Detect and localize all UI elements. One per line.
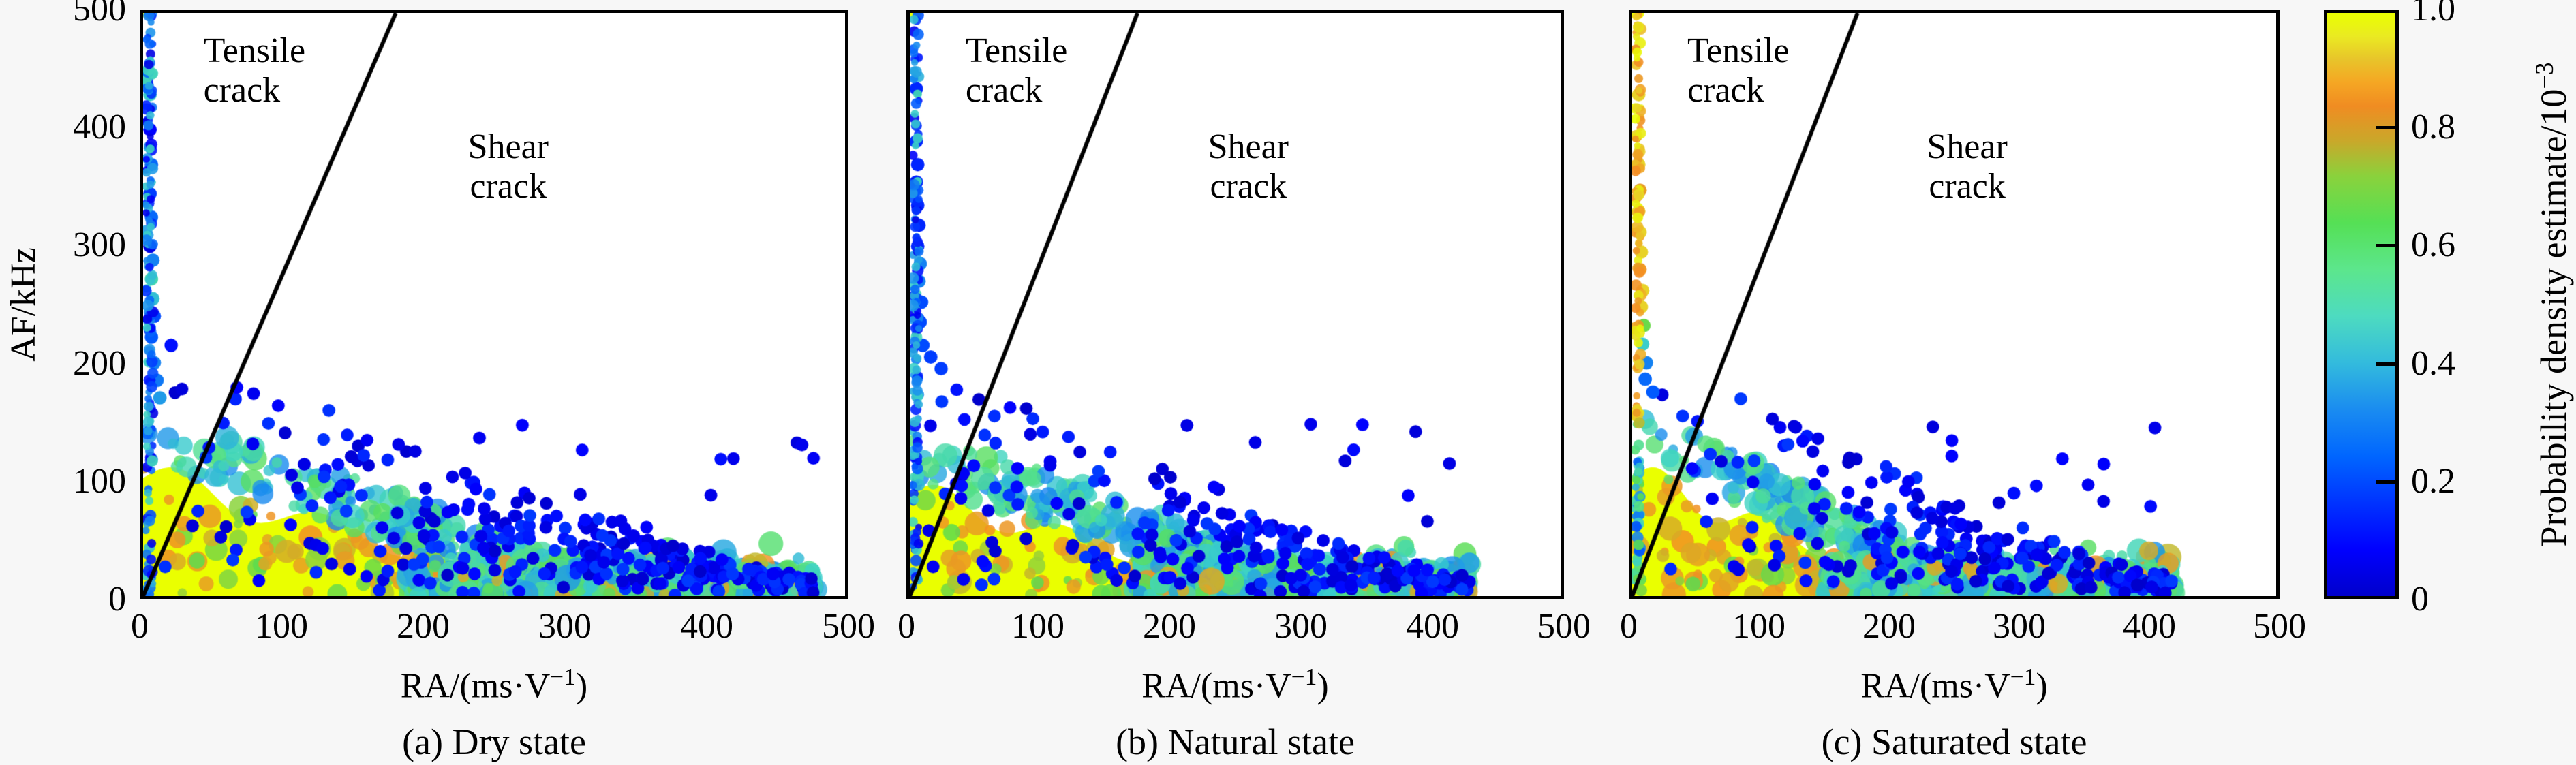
xtick-b-100: 100 <box>1011 609 1064 644</box>
xtick-b-500: 500 <box>1537 609 1591 644</box>
xtick-c-400: 400 <box>2123 609 2176 644</box>
xtick-a-0: 0 <box>131 609 149 644</box>
x-axis-label-exponent: −1 <box>550 663 576 690</box>
colorbar-tick-0.8: 0.8 <box>2411 110 2455 145</box>
colorbar-label-text: Probability density estimate/10 <box>2533 89 2574 547</box>
shear-crack-label-c: Shear crack <box>1927 127 2007 206</box>
xtick-c-0: 0 <box>1620 609 1638 644</box>
tensile-crack-label-c: Tensile crack <box>1687 31 1789 110</box>
xtick-c-200: 200 <box>1862 609 1916 644</box>
x-axis-label-text: RA/(ms·V <box>401 666 551 705</box>
xtick-c-500: 500 <box>2253 609 2306 644</box>
figure-root: Tensile crackShear crack0100200300400500… <box>0 0 2576 765</box>
xtick-b-300: 300 <box>1274 609 1328 644</box>
colorbar-tick-1.0: 1.0 <box>2411 0 2455 27</box>
xtick-a-300: 300 <box>538 609 592 644</box>
xtick-b-400: 400 <box>1406 609 1459 644</box>
x-axis-label-suffix: ) <box>1317 666 1328 705</box>
ytick-0: 0 <box>37 582 126 617</box>
y-axis-label: AF/kHz <box>6 247 42 362</box>
x-axis-label-exponent: −1 <box>1291 663 1317 690</box>
x-axis-label-c: RA/(ms·V−1) <box>1860 665 2048 704</box>
ytick-500: 500 <box>37 0 126 27</box>
shear-crack-label-b: Shear crack <box>1208 127 1289 206</box>
xtick-c-300: 300 <box>1993 609 2046 644</box>
x-axis-label-suffix: ) <box>576 666 587 705</box>
xtick-b-200: 200 <box>1143 609 1196 644</box>
colorbar-tick-mark-0.8 <box>2376 126 2399 129</box>
tensile-crack-label-a: Tensile crack <box>204 31 305 110</box>
xtick-a-100: 100 <box>255 609 308 644</box>
colorbar <box>2324 10 2399 599</box>
colorbar-tick-0.4: 0.4 <box>2411 346 2455 381</box>
xtick-c-100: 100 <box>1732 609 1785 644</box>
x-axis-label-exponent: −1 <box>2010 663 2036 690</box>
colorbar-tick-mark-0.2 <box>2376 480 2399 484</box>
panel-caption-a: (a) Dry state <box>402 723 586 760</box>
y-axis-label-text: AF/kHz <box>4 247 43 362</box>
xtick-b-0: 0 <box>898 609 915 644</box>
xtick-a-500: 500 <box>822 609 875 644</box>
xtick-a-200: 200 <box>397 609 450 644</box>
x-axis-label-b: RA/(ms·V−1) <box>1141 665 1329 704</box>
ytick-300: 300 <box>37 228 126 263</box>
tensile-crack-label-b: Tensile crack <box>966 31 1067 110</box>
colorbar-label-exponent: −3 <box>2530 63 2558 89</box>
x-axis-label-suffix: ) <box>2036 666 2047 705</box>
ytick-100: 100 <box>37 464 126 499</box>
panel-caption-b: (b) Natural state <box>1116 723 1355 760</box>
colorbar-tick-mark-0.4 <box>2376 362 2399 366</box>
x-axis-label-text: RA/(ms·V <box>1860 666 2010 705</box>
xtick-a-400: 400 <box>680 609 733 644</box>
panel-caption-c: (c) Saturated state <box>1822 723 2087 760</box>
colorbar-tick-0: 0 <box>2411 582 2429 617</box>
x-axis-label-text: RA/(ms·V <box>1141 666 1291 705</box>
colorbar-tick-mark-0.6 <box>2376 244 2399 247</box>
ytick-200: 200 <box>37 346 126 381</box>
x-axis-label-a: RA/(ms·V−1) <box>401 665 588 704</box>
colorbar-label: Probability density estimate/10−3 <box>2532 63 2572 547</box>
colorbar-tick-0.2: 0.2 <box>2411 464 2455 499</box>
shear-crack-label-a: Shear crack <box>468 127 549 206</box>
ytick-400: 400 <box>37 110 126 145</box>
colorbar-tick-0.6: 0.6 <box>2411 228 2455 263</box>
